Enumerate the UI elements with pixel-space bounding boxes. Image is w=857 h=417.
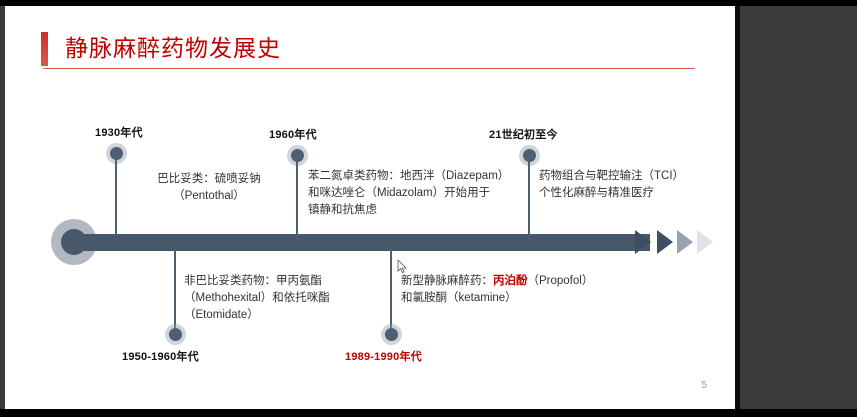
timeline-arrow-icon-4 [697, 230, 713, 254]
timeline-desc-1960s: 苯二氮卓类药物：地西泮（Diazepam） 和咪达唑仑（Midazolam）开始… [308, 168, 528, 219]
page-number: 5 [701, 380, 707, 391]
timeline-stem-1930s [115, 156, 117, 236]
timeline-stem-1950-1960s [174, 249, 176, 333]
timeline-stem-21st-century [528, 158, 530, 236]
bottom-letterbox-bar [0, 409, 857, 417]
screen-root: 静脉麻醉药物发展史 1930年代 巴比妥类：硫喷妥钠 （Pentothal） 1… [0, 0, 857, 417]
desc-highlight-propofol: 丙泊酚 [493, 275, 528, 287]
mouse-cursor-icon [397, 260, 408, 274]
desc-prefix-text: 新型静脉麻醉药： [401, 275, 493, 287]
timeline-stem-1989-1990s [390, 249, 392, 333]
page-title: 静脉麻醉药物发展史 [65, 32, 281, 65]
timeline-desc-1989-1990s: 新型静脉麻醉药：丙泊酚（Propofol） 和氯胺酮（ketamine） [401, 273, 631, 307]
timeline-desc-1950-1960s: 非巴比妥类药物：甲丙氨酯 （Methohexital）和依托咪酯 （Etomid… [184, 273, 394, 324]
presentation-slide[interactable]: 静脉麻醉药物发展史 1930年代 巴比妥类：硫喷妥钠 （Pentothal） 1… [5, 6, 735, 409]
timeline-desc-21st-century: 药物组合与靶控输注（TCI） 个性化麻醉与精准医疗 [539, 168, 729, 202]
timeline-marker-1989-1990s [385, 328, 398, 341]
timeline-bar [75, 234, 650, 251]
timeline-year-1930s: 1930年代 [95, 124, 143, 140]
timeline-year-1960s: 1960年代 [269, 126, 317, 142]
timeline-year-1950-1960s: 1950-1960年代 [122, 348, 199, 364]
timeline-desc-1930s: 巴比妥类：硫喷妥钠 （Pentothal） [129, 171, 289, 205]
timeline-marker-1950-1960s [169, 328, 182, 341]
title-divider [43, 68, 695, 69]
timeline-arrow-icon-1 [635, 230, 651, 254]
timeline-year-1989-1990s: 1989-1990年代 [345, 348, 422, 364]
timeline-arrow-icon-3 [677, 230, 693, 254]
timeline-arrow-icon-2 [657, 230, 673, 254]
title-accent-bar [41, 32, 48, 66]
participants-panel[interactable]: 木あ恩 [740, 6, 857, 409]
timeline-stem-1960s [296, 158, 298, 236]
timeline-year-21st-century: 21世纪初至今 [489, 126, 558, 142]
